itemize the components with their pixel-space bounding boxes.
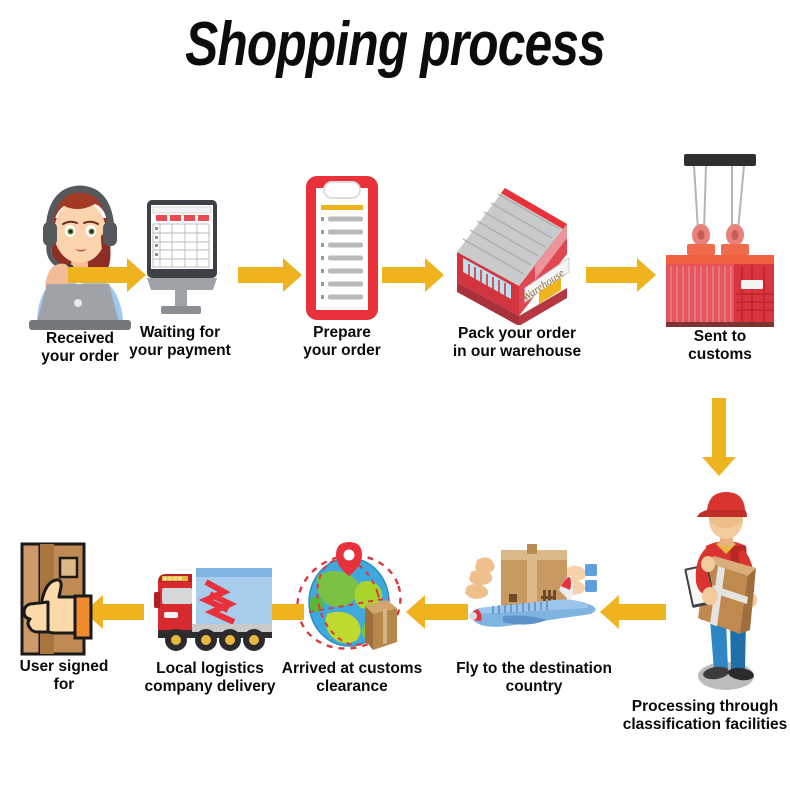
- step-label: Pack your order in our warehouse: [432, 325, 602, 362]
- step-fly-to-the-destination-country[interactable]: Fly to the destination country: [444, 538, 624, 697]
- step-label: Prepare your order: [282, 324, 402, 361]
- delivery-truck-icon: [144, 552, 276, 660]
- monitor-spreadsheet-icon: [127, 196, 233, 324]
- step-local-logistics-company-delivery[interactable]: Local logistics company delivery: [122, 552, 298, 697]
- step-label: Sent to customs: [650, 328, 790, 365]
- crane-shipping-container-icon: [656, 152, 784, 328]
- arrow-right-4: [586, 258, 656, 292]
- arrow-shaft: [586, 267, 638, 283]
- step-pack-your-order[interactable]: Warehouse Pack your order in our warehou…: [432, 180, 602, 362]
- arrow-down-5: [702, 398, 736, 476]
- arrow-shaft: [382, 267, 426, 283]
- page-title: Shopping process: [79, 14, 711, 76]
- step-label: Waiting for your payment: [110, 324, 250, 361]
- arrow-head: [702, 457, 736, 476]
- step-sent-to-customs[interactable]: Sent to customs: [650, 152, 790, 365]
- clipboard-checklist-icon: [294, 172, 390, 324]
- step-label: User signed for: [0, 658, 128, 695]
- step-label: Local logistics company delivery: [122, 660, 298, 697]
- step-label: Fly to the destination country: [444, 660, 624, 697]
- airplane-package-icon: [459, 538, 609, 660]
- arrow-shaft: [712, 398, 726, 459]
- step-label: Processing through classification facili…: [620, 698, 790, 735]
- arrow-shaft: [618, 604, 666, 620]
- courier-with-package-icon: [666, 488, 784, 696]
- door-thumbs-up-hand-icon: [12, 540, 116, 658]
- arrow-shaft: [238, 267, 284, 283]
- warehouse-building-icon: Warehouse: [447, 180, 587, 325]
- globe-package-icon: [287, 540, 417, 660]
- step-user-signed-for[interactable]: User signed for: [0, 540, 128, 695]
- step-waiting-for-your-payment[interactable]: Waiting for your payment: [110, 196, 250, 361]
